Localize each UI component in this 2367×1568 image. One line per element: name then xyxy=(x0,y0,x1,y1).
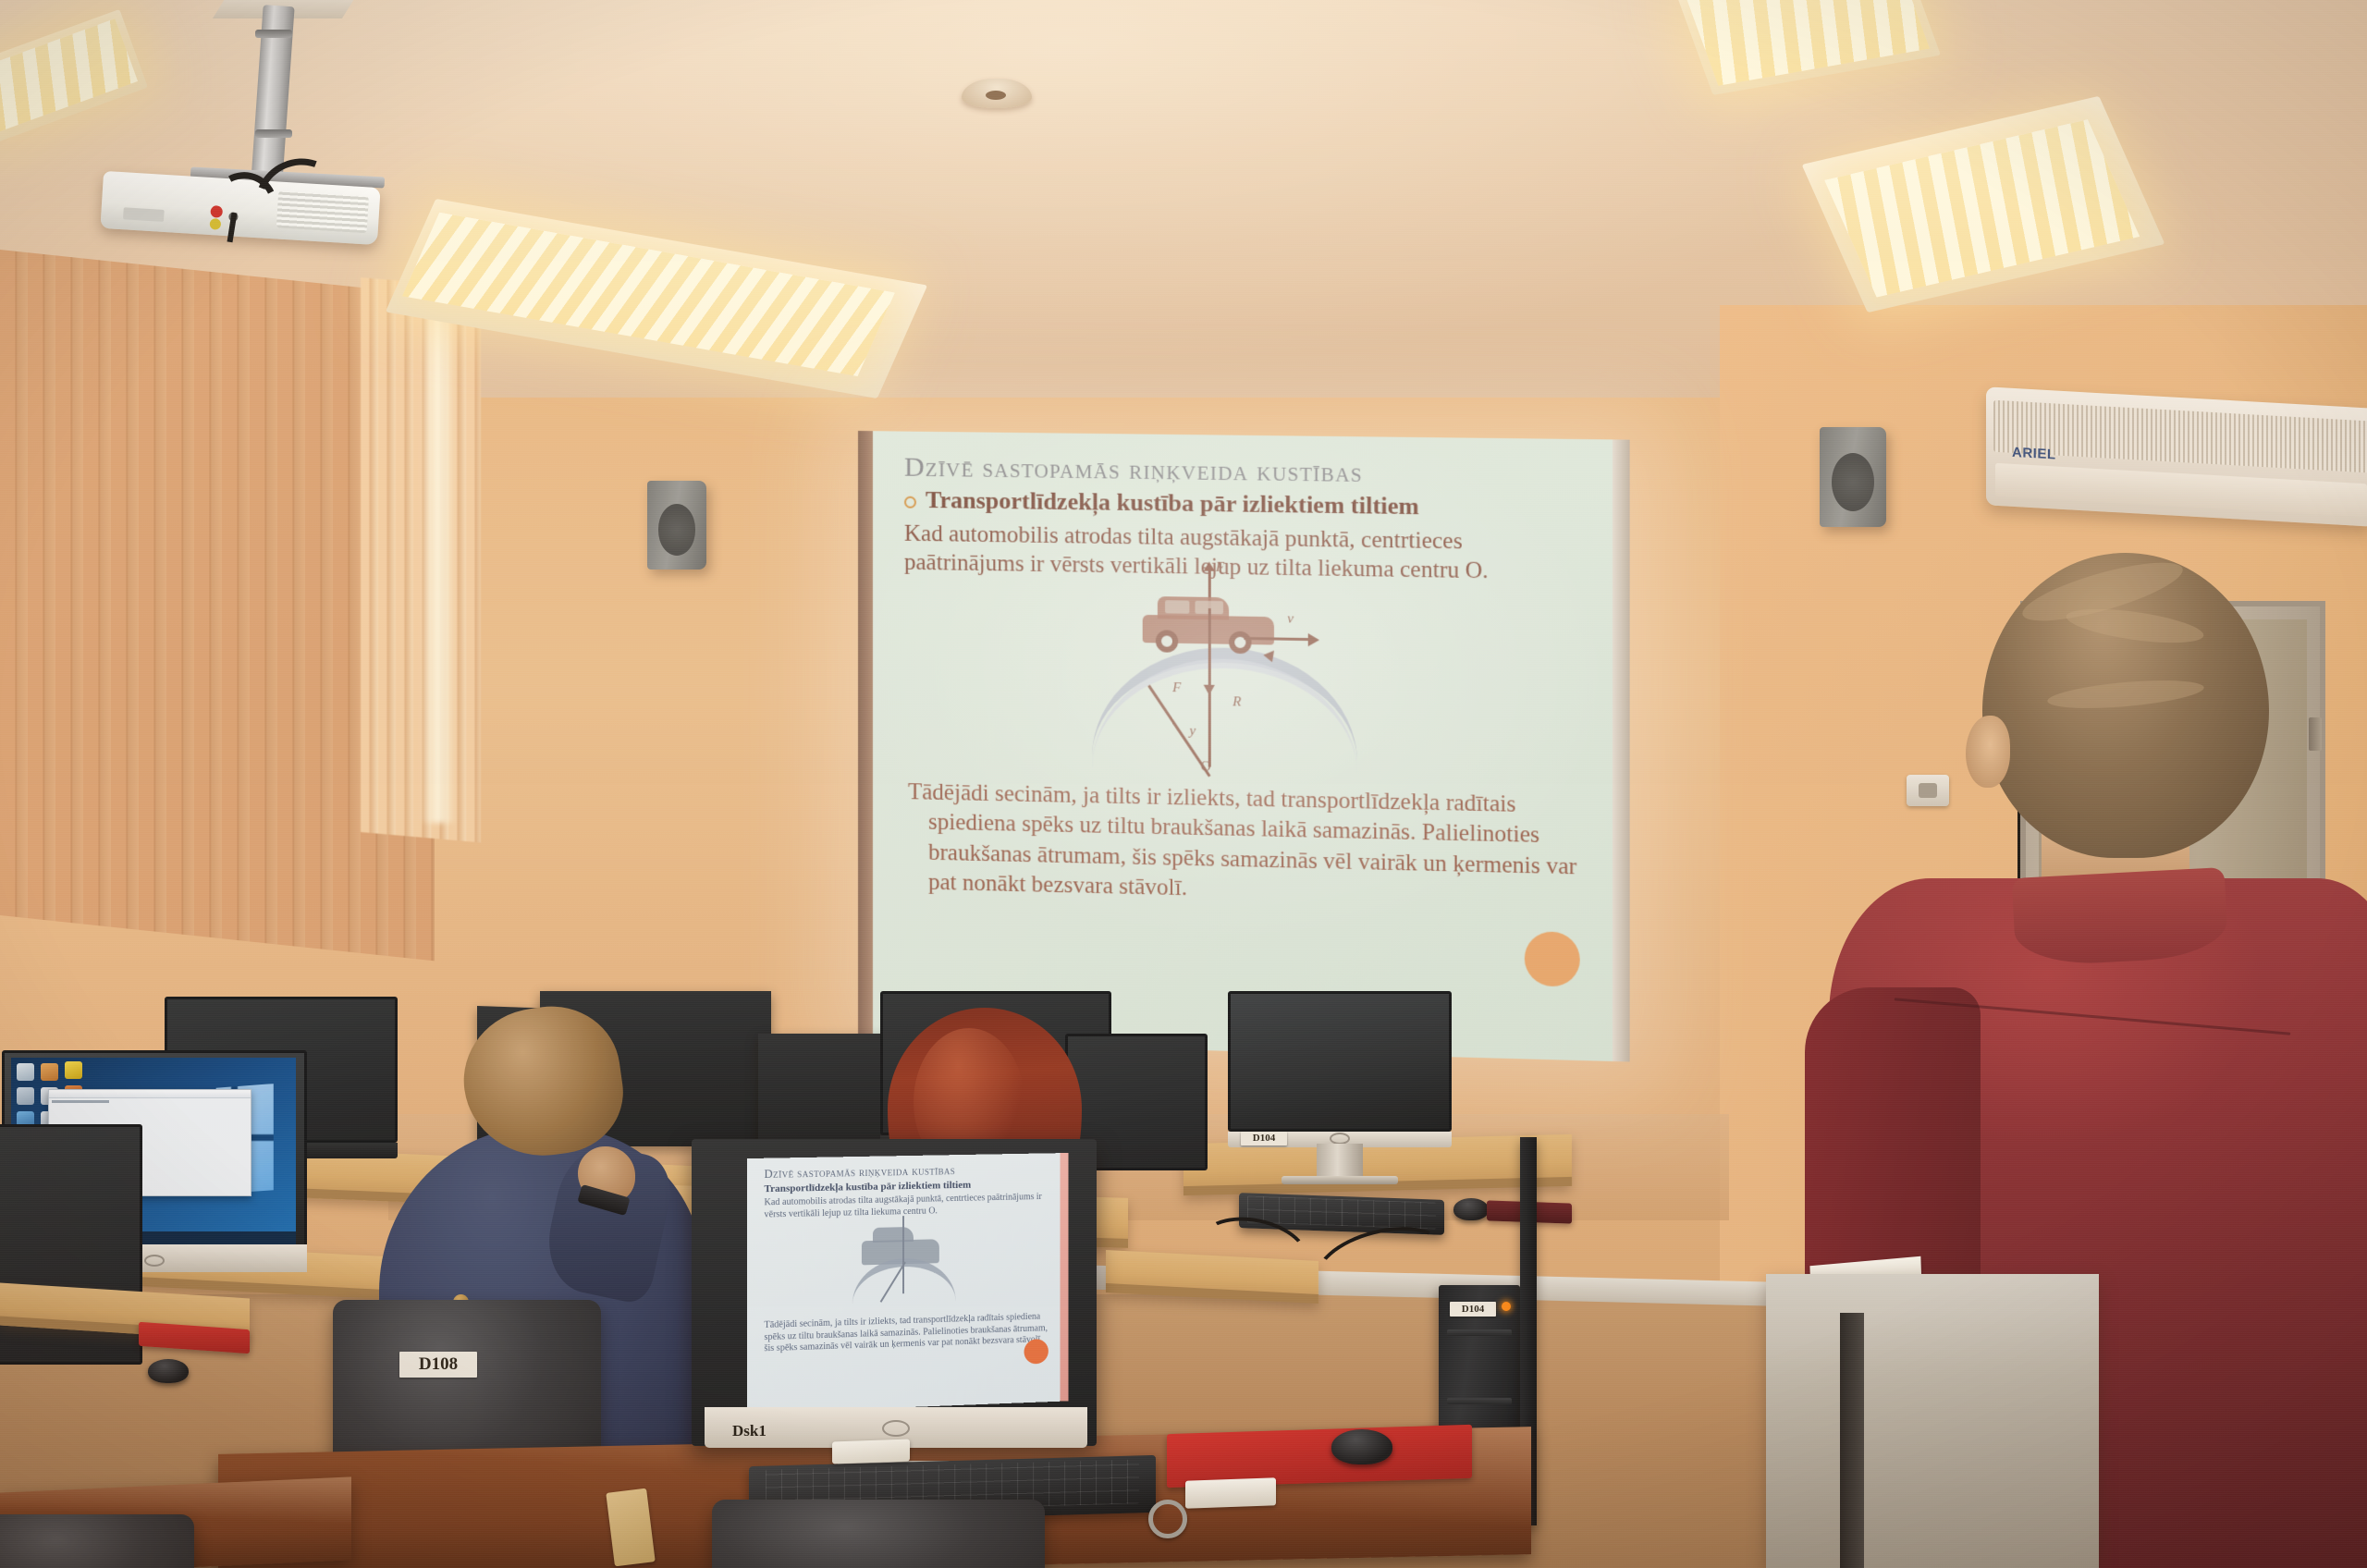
car-wheel xyxy=(1229,631,1251,654)
figure-velocity-arrow xyxy=(1308,633,1319,646)
figure-label-gravity: F xyxy=(1172,680,1181,696)
slide-paragraph-second: Tādējādi secinām, ja tilts ir izliekts, … xyxy=(925,778,1580,913)
slide-paragraph-first: Kad automobilis atrodas tilta augstākajā… xyxy=(904,519,1580,587)
foreground-monitor-screen[interactable]: Dzīvē sastopamās riņķveida kustības Tran… xyxy=(747,1153,1068,1414)
presentation-slide: Dzīvē sastopamās riņķveida kustības Tran… xyxy=(873,431,1613,1061)
car-window xyxy=(1165,600,1189,614)
presenter-ear xyxy=(1966,716,2010,788)
mirrored-slide-paragraph-second: Tādējādi secinām, ja tilts ir izliekts, … xyxy=(764,1311,1053,1355)
foreground-monitor[interactable]: Dzīvē sastopamās riņķveida kustības Tran… xyxy=(692,1139,1097,1446)
mirrored-car-cabin xyxy=(873,1227,914,1243)
figure-gravity-arrow xyxy=(1204,684,1215,694)
lectern-leg xyxy=(1840,1313,1864,1568)
foreground-monitor-asset-tag: Dsk1 xyxy=(732,1422,767,1440)
figure-label-height: y xyxy=(1189,723,1196,739)
hair-highlight xyxy=(2046,676,2205,714)
figure-normal-force-arrow xyxy=(1204,561,1215,570)
monitor-asset-tag: D104 xyxy=(1241,1132,1287,1145)
projector-port-panel xyxy=(123,207,165,222)
desktop-icon[interactable] xyxy=(65,1061,82,1079)
mirrored-slide-stripe xyxy=(1061,1153,1069,1402)
figure-bridge-arc-inner xyxy=(1092,656,1357,773)
smoke-detector-icon xyxy=(962,79,1032,108)
mirrored-force-axis xyxy=(902,1216,904,1293)
bullet-circle-icon xyxy=(904,496,916,508)
desktop-icon[interactable] xyxy=(17,1087,34,1105)
chair-foreground-center[interactable] xyxy=(712,1500,1045,1568)
pc-tower-asset-tag: D104 xyxy=(1450,1302,1496,1317)
chair-asset-tag: D108 xyxy=(399,1352,477,1378)
desktop-icon[interactable] xyxy=(17,1063,34,1081)
remote-control[interactable] xyxy=(1185,1477,1276,1508)
hp-monitor-right[interactable]: D104 xyxy=(1228,991,1452,1132)
wall-speaker-icon xyxy=(1820,427,1886,527)
presenter-head xyxy=(1982,553,2269,858)
lectern-desk xyxy=(1766,1274,2099,1568)
mouse-foreground[interactable] xyxy=(1331,1429,1392,1464)
slide-bullet-row: Transportlīdzekļa kustība pār izliektiem… xyxy=(904,485,1580,525)
slide-bullet-heading: Transportlīdzekļa kustība pār izliektiem… xyxy=(926,485,1419,522)
air-conditioner: ARIEL xyxy=(1986,386,2367,526)
window-light-glow xyxy=(421,305,456,823)
screen-right-border xyxy=(1613,439,1630,1061)
figure-label-normal-force: F xyxy=(1216,559,1224,575)
window-title-bar[interactable] xyxy=(49,1090,251,1098)
desktop-icon[interactable] xyxy=(41,1063,58,1081)
mousepad-foreground xyxy=(1167,1425,1472,1488)
projector-pole-ring xyxy=(255,129,292,138)
slide-accent-dot xyxy=(1525,931,1580,986)
paper-note xyxy=(832,1439,910,1464)
ac-brand-label: ARIEL xyxy=(2012,445,2056,463)
classroom-scene: ARIEL Dzīvē sastopamās riņķveida kustība… xyxy=(0,0,2367,1568)
figure-label-radius: R xyxy=(1233,694,1241,710)
projection-screen: Dzīvē sastopamās riņķveida kustības Tran… xyxy=(858,431,1630,1061)
ceiling-projector xyxy=(139,0,444,235)
wall-speaker-icon xyxy=(647,481,706,570)
projector-pole-ring xyxy=(255,30,292,38)
hair-highlight xyxy=(2065,603,2206,650)
screen-left-border xyxy=(858,431,873,1041)
chair-foreground-left[interactable] xyxy=(0,1514,194,1568)
window-menu-bar[interactable] xyxy=(52,1100,109,1103)
figure-label-center: O xyxy=(1201,759,1211,775)
mouse-left[interactable] xyxy=(148,1359,189,1383)
keyring-icon xyxy=(1148,1500,1187,1538)
mirrored-slide: Dzīvē sastopamās riņķveida kustības Tran… xyxy=(747,1153,1068,1414)
mirrored-slide-accent-dot xyxy=(1024,1339,1048,1365)
mirrored-slide-figure xyxy=(764,1215,1053,1318)
slide-physics-figure: F v xyxy=(904,579,1580,785)
mouse-back-right[interactable] xyxy=(1453,1198,1489,1220)
figure-label-velocity: v xyxy=(1287,611,1294,627)
car-wheel xyxy=(1156,630,1178,653)
